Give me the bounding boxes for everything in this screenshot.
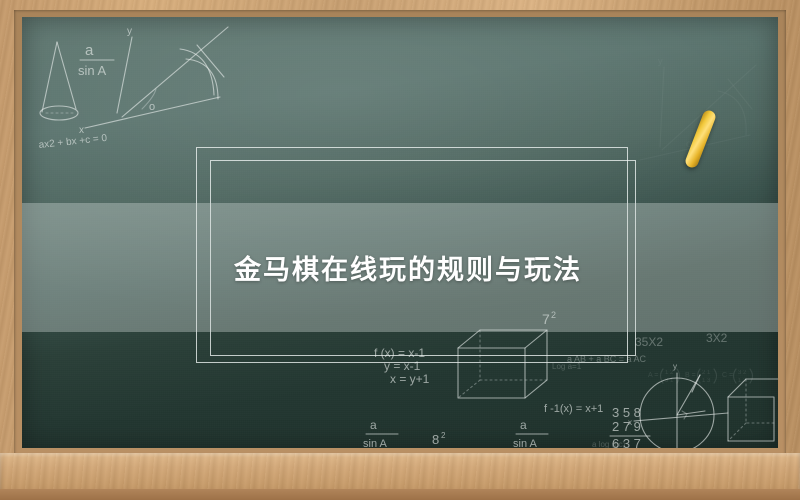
ledge-lip [0, 489, 800, 500]
title-band: 金马棋在线玩的规则与玩法 [22, 203, 778, 332]
chalkboard-banner: a sin A ax2 + bx +c = 0 y x o [0, 0, 800, 500]
page-title: 金马棋在线玩的规则与玩法 [234, 248, 582, 287]
chalkboard-surface: a sin A ax2 + bx +c = 0 y x o [22, 17, 778, 448]
wooden-ledge [0, 453, 800, 500]
